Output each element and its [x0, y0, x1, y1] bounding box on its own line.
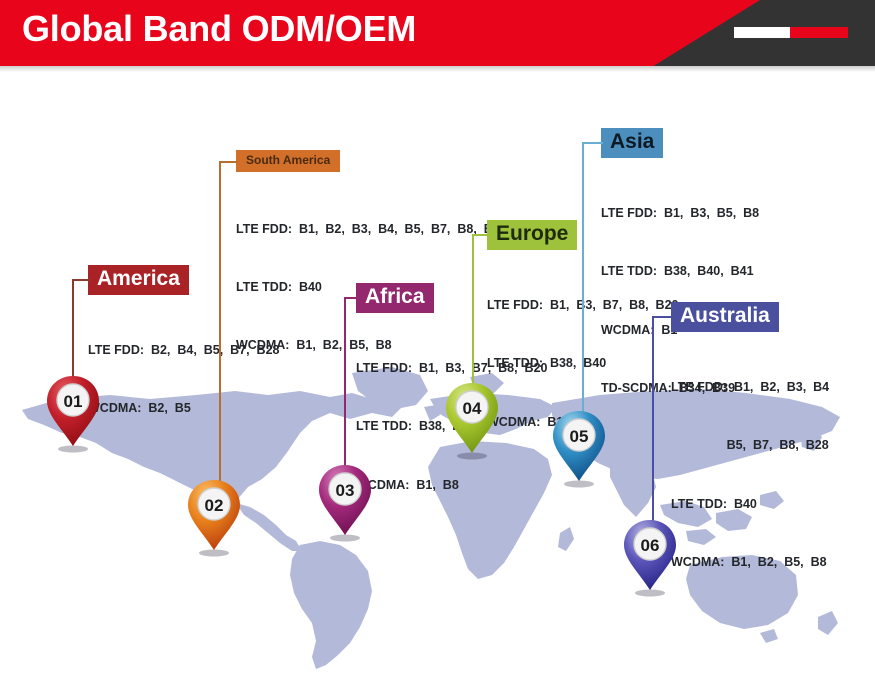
band-line: LTE TDD: B40	[671, 495, 829, 514]
pin-shadow	[199, 550, 229, 557]
map-pin-03[interactable]: 03	[316, 462, 374, 544]
band-line: WCDMA: B1, B8	[356, 476, 547, 495]
pin-shadow	[457, 453, 487, 460]
connector-h	[652, 316, 673, 318]
pin-number-02: 02	[205, 496, 224, 515]
pin-shadow	[635, 590, 665, 597]
connector-v	[582, 142, 584, 422]
header-accent-bar-white	[734, 27, 790, 38]
pin-number-01: 01	[64, 392, 83, 411]
band-line: LTE TDD: B38, B40, B41	[601, 262, 759, 281]
page-title: Global Band ODM/OEM	[22, 8, 416, 50]
region-bands-australia: LTE FDD: B1, B2, B3, B4 B5, B7, B8, B28 …	[671, 340, 829, 611]
connector-h	[219, 161, 238, 163]
region-label-america: America	[88, 265, 189, 295]
map-pin-01[interactable]: 01	[44, 373, 102, 455]
region-label-south-america: South America	[236, 150, 340, 172]
region-block-australia: Australia LTE FDD: B1, B2, B3, B4 B5, B7…	[671, 302, 829, 611]
region-label-australia: Australia	[671, 302, 779, 332]
connector-h	[344, 297, 358, 299]
band-line: LTE FDD: B1, B3, B5, B8	[601, 204, 759, 223]
pin-number-03: 03	[336, 481, 355, 500]
pin-shadow	[564, 481, 594, 488]
map-pin-05[interactable]: 05	[550, 408, 608, 490]
band-line: WCDMA: B2, B5	[88, 399, 279, 418]
region-label-asia: Asia	[601, 128, 663, 158]
connector-h	[472, 234, 489, 236]
connector-v	[472, 234, 474, 402]
pin-shadow	[330, 535, 360, 542]
infographic-canvas: Global Band ODM/OEM	[0, 0, 875, 676]
band-line: B5, B7, B8, B28	[671, 436, 829, 455]
region-label-europe: Europe	[487, 220, 577, 250]
band-line: LTE FDD: B1, B2, B3, B4	[671, 378, 829, 397]
connector-v	[219, 161, 221, 496]
pin-number-06: 06	[641, 536, 660, 555]
band-line: LTE FDD: B1, B2, B3, B4, B5, B7, B8, B28	[236, 220, 507, 239]
pin-number-04: 04	[463, 399, 482, 418]
connector-h	[72, 279, 90, 281]
map-pin-06[interactable]: 06	[621, 517, 679, 599]
map-pin-02[interactable]: 02	[185, 477, 243, 559]
header-shadow	[0, 66, 875, 72]
region-label-africa: Africa	[356, 283, 434, 313]
pin-number-05: 05	[570, 427, 589, 446]
pin-shadow	[58, 446, 88, 453]
page-header: Global Band ODM/OEM	[0, 0, 875, 66]
connector-v	[652, 316, 654, 531]
connector-h	[582, 142, 603, 144]
header-accent-bar-red	[790, 27, 848, 38]
band-line: WCDMA: B1, B2, B5, B8	[671, 553, 829, 572]
connector-v	[344, 297, 346, 477]
map-pin-04[interactable]: 04	[443, 380, 501, 462]
